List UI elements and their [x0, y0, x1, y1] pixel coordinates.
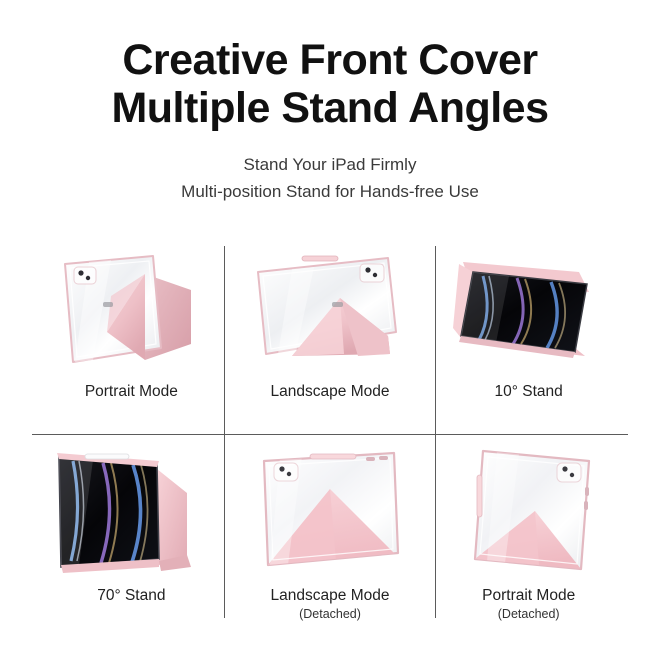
grid-cell-stand-70: 70° Stand	[32, 436, 231, 648]
caption-stand-10: 10° Stand	[495, 382, 563, 401]
caption-text: 70° Stand	[97, 587, 165, 604]
header: Creative Front Cover Multiple Stand Angl…	[0, 0, 660, 205]
product-image-portrait-detached	[429, 440, 628, 580]
product-image-stand-70	[32, 440, 231, 580]
product-image-landscape-mode	[231, 236, 430, 376]
caption-landscape-detached: Landscape Mode (Detached)	[271, 586, 390, 623]
caption-text: 10° Stand	[495, 383, 563, 400]
illustration-portrait-detached	[439, 435, 619, 585]
illustration-portrait-attached	[41, 236, 221, 376]
headline-line-2: Multiple Stand Angles	[0, 84, 660, 132]
caption-text: Portrait Mode	[482, 587, 575, 604]
caption-text: Portrait Mode	[85, 383, 178, 400]
subheading: Stand Your iPad Firmly Multi-position St…	[0, 152, 660, 205]
headline-line-1: Creative Front Cover	[0, 36, 660, 84]
caption-portrait-mode: Portrait Mode	[85, 382, 178, 401]
grid-row-top: Portrait Mode	[32, 232, 628, 432]
grid-cell-portrait-detached: Portrait Mode (Detached)	[429, 436, 628, 648]
illustration-stand-70-degree	[41, 435, 221, 585]
product-image-portrait-mode	[32, 236, 231, 376]
grid-cell-landscape-mode: Landscape Mode	[231, 232, 430, 432]
caption-stand-70: 70° Stand	[97, 586, 165, 605]
grid-cell-landscape-detached: Landscape Mode (Detached)	[231, 436, 430, 648]
illustration-landscape-attached	[240, 236, 420, 376]
grid-cell-portrait-mode: Portrait Mode	[32, 232, 231, 432]
caption-subtext: (Detached)	[482, 607, 575, 623]
subheading-line-1: Stand Your iPad Firmly	[0, 152, 660, 178]
feature-grid: Portrait Mode	[32, 232, 628, 636]
product-image-stand-10	[429, 236, 628, 376]
grid-cell-stand-10: 10° Stand	[429, 232, 628, 432]
caption-portrait-detached: Portrait Mode (Detached)	[482, 586, 575, 623]
grid-row-bottom: 70° Stand	[32, 436, 628, 648]
caption-landscape-mode: Landscape Mode	[271, 382, 390, 401]
caption-text: Landscape Mode	[271, 383, 390, 400]
illustration-stand-10-degree	[439, 236, 619, 376]
caption-subtext: (Detached)	[271, 607, 390, 623]
illustration-landscape-detached	[240, 435, 420, 585]
subheading-line-2: Multi-position Stand for Hands-free Use	[0, 179, 660, 205]
product-image-landscape-detached	[231, 440, 430, 580]
caption-text: Landscape Mode	[271, 587, 390, 604]
page-title: Creative Front Cover Multiple Stand Angl…	[0, 36, 660, 132]
